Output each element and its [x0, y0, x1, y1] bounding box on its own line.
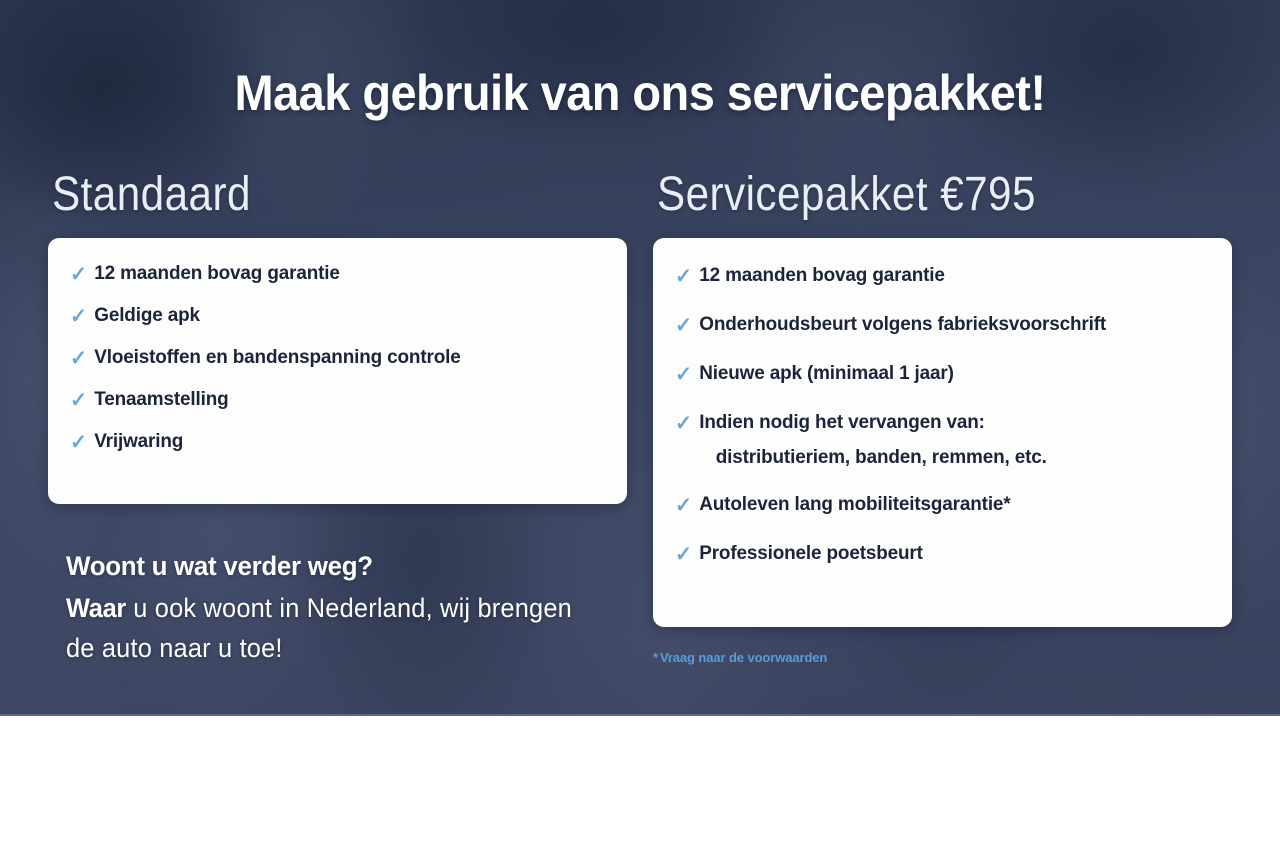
list-item-label: 12 maanden bovag garantie	[94, 264, 340, 284]
list-item-label: Vrijwaring	[94, 432, 183, 452]
list-item-label: Professionele poetsbeurt	[699, 544, 923, 564]
check-icon: ✓	[675, 266, 692, 287]
promo-lead: Waar	[66, 593, 126, 623]
list-item-label: Indien nodig het vervangen van:	[699, 413, 1046, 433]
page-title: Maak gebruik van ons servicepakket!	[38, 64, 1241, 122]
check-icon: ✓	[675, 544, 692, 565]
list-item: ✓ Professionele poetsbeurt	[675, 544, 1194, 565]
check-icon: ✓	[70, 306, 87, 327]
list-item: ✓ 12 maanden bovag garantie	[675, 266, 1194, 287]
list-item-label: Nieuwe apk (minimaal 1 jaar)	[699, 364, 954, 384]
list-item-body: Indien nodig het vervangen van: distribu…	[699, 413, 1046, 467]
promo-body-text: u ook woont in Nederland, wij brengen de…	[66, 593, 572, 663]
list-item: ✓ Onderhoudsbeurt volgens fabrieksvoorsc…	[675, 315, 1194, 336]
column-heading-package: Servicepakket €795	[657, 167, 1036, 222]
list-item: ✓ 12 maanden bovag garantie	[70, 264, 589, 285]
list-item-label: Autoleven lang mobiliteitsgarantie*	[699, 495, 1010, 515]
service-package-card: ✓ 12 maanden bovag garantie ✓ Onderhouds…	[653, 238, 1232, 627]
list-item-label: Geldige apk	[94, 306, 200, 326]
list-item-label: Vloeistoffen en bandenspanning controle	[94, 348, 460, 368]
package-feature-list: ✓ 12 maanden bovag garantie ✓ Onderhouds…	[653, 238, 1232, 565]
list-item: ✓ Vloeistoffen en bandenspanning control…	[70, 348, 589, 369]
check-icon: ✓	[675, 315, 692, 336]
list-item-label: Onderhoudsbeurt volgens fabrieksvoorschr…	[699, 315, 1106, 335]
promo-body: Waar u ook woont in Nederland, wij breng…	[66, 589, 592, 669]
list-item-label: Tenaamstelling	[94, 390, 228, 410]
list-item: ✓ Vrijwaring	[70, 432, 589, 453]
column-heading-standard: Standaard	[52, 167, 251, 222]
list-item: ✓ Nieuwe apk (minimaal 1 jaar)	[675, 364, 1194, 385]
footnote-star: *	[653, 650, 658, 665]
list-item-sublabel: distributieriem, banden, remmen, etc.	[699, 448, 1046, 468]
check-icon: ✓	[675, 364, 692, 385]
standard-feature-list: ✓ 12 maanden bovag garantie ✓ Geldige ap…	[48, 238, 627, 453]
list-item: ✓ Indien nodig het vervangen van: distri…	[675, 413, 1194, 467]
list-item: ✓ Geldige apk	[70, 306, 589, 327]
list-item-label: 12 maanden bovag garantie	[699, 266, 945, 286]
check-icon: ✓	[675, 495, 692, 516]
list-item: ✓ Tenaamstelling	[70, 390, 589, 411]
check-icon: ✓	[70, 348, 87, 369]
footnote-text: Vraag naar de voorwaarden	[660, 650, 827, 665]
check-icon: ✓	[675, 413, 692, 434]
check-icon: ✓	[70, 264, 87, 285]
standard-package-card: ✓ 12 maanden bovag garantie ✓ Geldige ap…	[48, 238, 627, 504]
package-footnote: *Vraag naar de voorwaarden	[653, 650, 827, 665]
list-item: ✓ Autoleven lang mobiliteitsgarantie*	[675, 495, 1194, 516]
check-icon: ✓	[70, 432, 87, 453]
promo-question: Woont u wat verder weg?	[66, 551, 604, 582]
footer-bar: Meer informatie: wijnne.nl AUTOBEDRIJF W…	[0, 716, 1280, 853]
check-icon: ✓	[70, 390, 87, 411]
delivery-promo: Woont u wat verder weg? Waar u ook woont…	[66, 551, 626, 669]
service-package-poster: Maak gebruik van ons servicepakket! Stan…	[0, 0, 1280, 853]
